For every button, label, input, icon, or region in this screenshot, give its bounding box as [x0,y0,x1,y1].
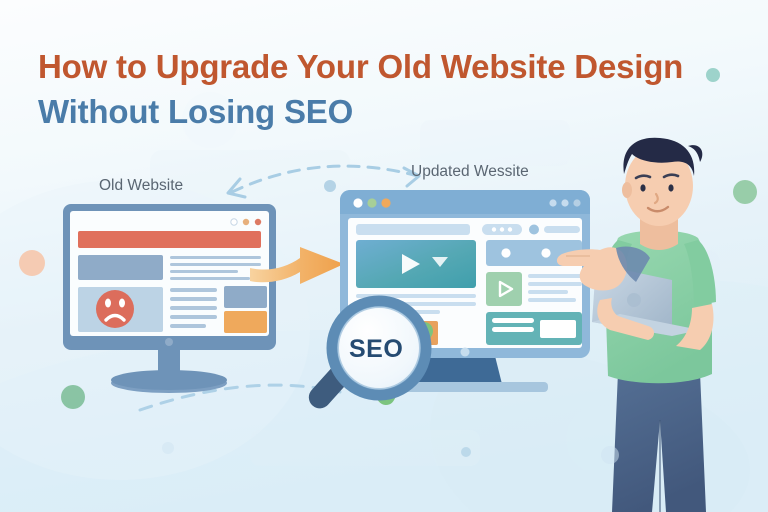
old-website-label: Old Website [99,177,183,195]
page-title: How to Upgrade Your Old Website Design W… [38,44,683,134]
title-line-2: Without Losing SEO [38,89,683,134]
seo-badge-text: SEO [349,335,403,364]
updated-website-label: Updated Wessite [411,163,529,181]
illustration-canvas: How to Upgrade Your Old Website Design W… [0,0,768,512]
title-line-1: How to Upgrade Your Old Website Design [38,44,683,89]
sad-face-icon [96,290,134,328]
